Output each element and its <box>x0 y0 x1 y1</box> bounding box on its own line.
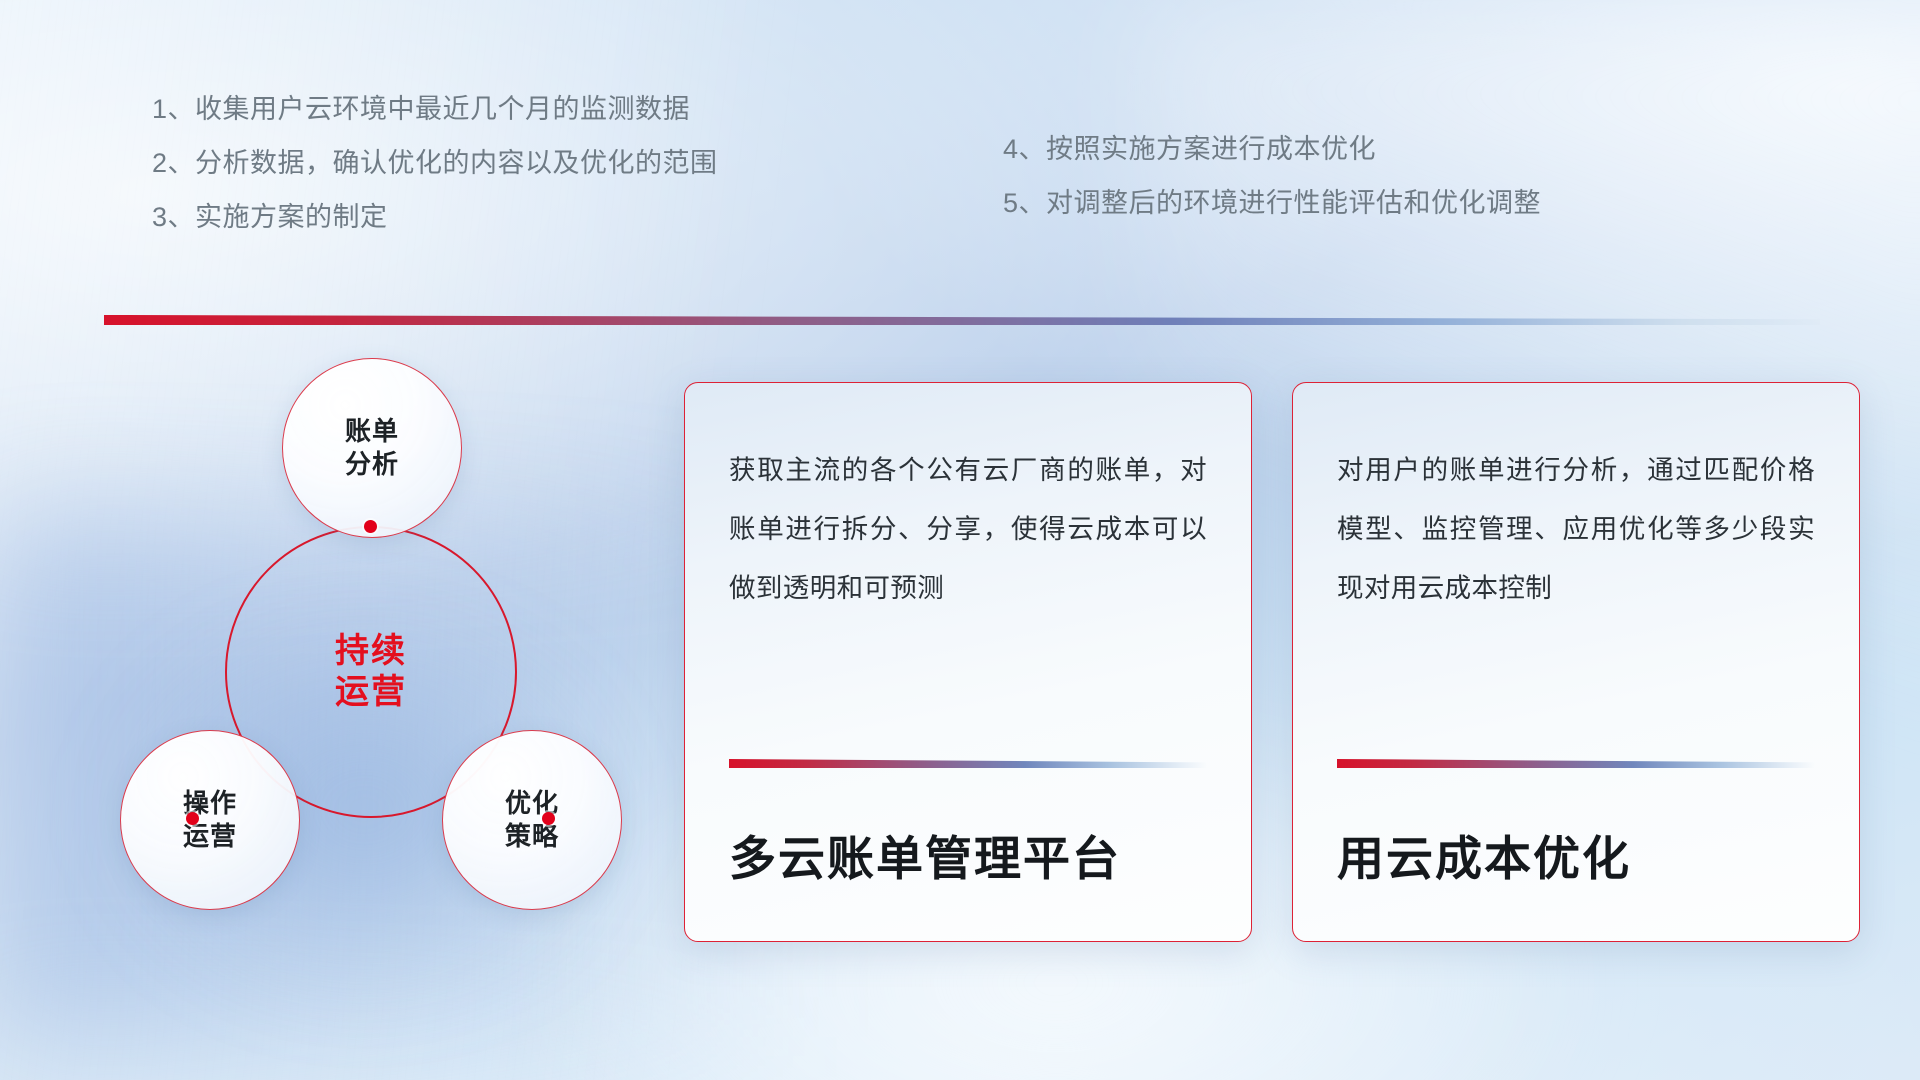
step-item-1: 1、收集用户云环境中最近几个月的监测数据 <box>152 96 718 123</box>
card-2-rule <box>1337 759 1815 768</box>
steps-list: 1、收集用户云环境中最近几个月的监测数据 2、分析数据，确认优化的内容以及优化的… <box>0 96 1920 286</box>
divider-gradient-bar <box>104 315 1820 325</box>
card-cloud-cost-optimization[interactable]: 对用户的账单进行分析，通过匹配价格模型、监控管理、应用优化等多少段实现对用云成本… <box>1292 382 1860 942</box>
node-0-line-1: 账单 <box>345 416 399 446</box>
diagram-connector-dot-right <box>542 812 555 825</box>
steps-left-column: 1、收集用户云环境中最近几个月的监测数据 2、分析数据，确认优化的内容以及优化的… <box>152 96 718 258</box>
continuous-operation-diagram: 持续 运营 账单 分析 操作 运营 优化 策略 <box>96 348 636 948</box>
step-item-3: 3、实施方案的制定 <box>152 204 718 231</box>
node-0-line-2: 分析 <box>345 449 399 479</box>
steps-right-column: 4、按照实施方案进行成本优化 5、对调整后的环境进行性能评估和优化调整 <box>1003 136 1541 244</box>
diagram-node-billing-analysis-label: 账单 分析 <box>345 415 399 481</box>
step-item-5: 5、对调整后的环境进行性能评估和优化调整 <box>1003 190 1541 217</box>
center-label-text: 持续 运营 <box>335 631 407 713</box>
node-2-line-2: 策略 <box>505 821 559 851</box>
card-2-title: 用云成本优化 <box>1337 820 1815 889</box>
slide-canvas: 1、收集用户云环境中最近几个月的监测数据 2、分析数据，确认优化的内容以及优化的… <box>0 0 1920 1080</box>
card-1-body: 获取主流的各个公有云厂商的账单，对账单进行拆分、分享，使得云成本可以做到透明和可… <box>729 441 1207 617</box>
card-multicloud-billing-platform[interactable]: 获取主流的各个公有云厂商的账单，对账单进行拆分、分享，使得云成本可以做到透明和可… <box>684 382 1252 942</box>
card-1-rule <box>729 759 1207 768</box>
step-item-2: 2、分析数据，确认优化的内容以及优化的范围 <box>152 150 718 177</box>
diagram-node-operation[interactable]: 操作 运营 <box>120 730 300 910</box>
diagram-connector-dot-top <box>364 520 377 533</box>
diagram-connector-dot-left <box>186 812 199 825</box>
card-2-body: 对用户的账单进行分析，通过匹配价格模型、监控管理、应用优化等多少段实现对用云成本… <box>1337 441 1815 617</box>
node-1-line-2: 运营 <box>183 821 237 851</box>
step-item-4: 4、按照实施方案进行成本优化 <box>1003 136 1541 163</box>
diagram-node-optimization-strategy[interactable]: 优化 策略 <box>442 730 622 910</box>
center-label-line-2: 运营 <box>335 673 407 711</box>
card-1-title: 多云账单管理平台 <box>729 820 1207 889</box>
section-divider <box>104 315 1820 325</box>
center-label-line-1: 持续 <box>335 632 407 670</box>
diagram-node-billing-analysis[interactable]: 账单 分析 <box>282 358 462 538</box>
